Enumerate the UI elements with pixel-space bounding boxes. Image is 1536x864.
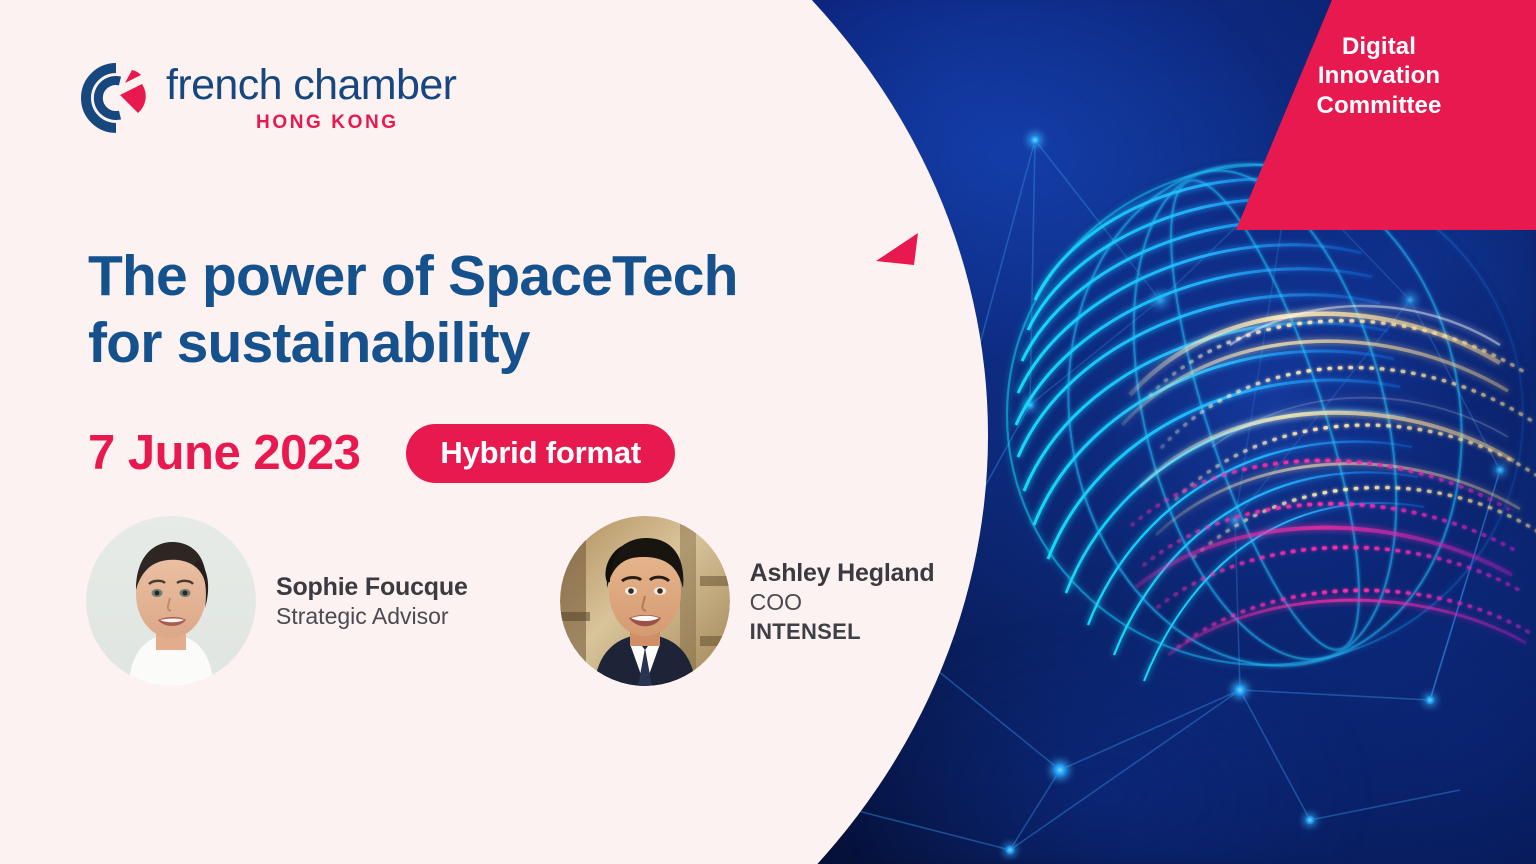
french-chamber-logo[interactable]: french chamber HONG KONG <box>80 62 456 134</box>
banner-line-1: Digital <box>1236 32 1522 61</box>
page-title: The power of SpaceTech for sustainabilit… <box>88 243 918 376</box>
committee-banner: Digital Innovation Committee <box>1236 0 1536 230</box>
speaker-name: Ashley Hegland <box>750 558 935 589</box>
logo-wordmark: french chamber HONG KONG <box>166 62 456 134</box>
event-poster: Digital Innovation Committee french cham… <box>0 0 1536 864</box>
logo-sub-text: HONG KONG <box>256 112 456 134</box>
speaker-info: Sophie Foucque Strategic Advisor <box>276 570 468 632</box>
speaker-info: Ashley Hegland COO INTENSEL <box>750 556 935 647</box>
avatar <box>86 516 256 686</box>
event-meta: 7 June 2023 Hybrid format <box>88 424 675 483</box>
title-line-2: for sustainability <box>88 310 918 377</box>
speaker-org: INTENSEL <box>750 618 935 647</box>
logo-main-text: french chamber <box>166 64 456 107</box>
event-date: 7 June 2023 <box>88 429 360 478</box>
banner-text: Digital Innovation Committee <box>1236 32 1522 120</box>
speaker-card: Ashley Hegland COO INTENSEL <box>560 516 935 686</box>
speaker-name: Sophie Foucque <box>276 572 468 603</box>
triangle-accent-icon <box>874 231 920 277</box>
format-badge: Hybrid format <box>406 424 675 483</box>
speaker-role: COO <box>750 588 935 618</box>
banner-line-2: Innovation <box>1236 61 1522 90</box>
speaker-card: Sophie Foucque Strategic Advisor <box>86 516 468 686</box>
speaker-list: Sophie Foucque Strategic Advisor <box>86 516 934 686</box>
cci-arc-logo-icon <box>80 62 152 134</box>
speaker-role: Strategic Advisor <box>276 602 468 632</box>
avatar <box>560 516 730 686</box>
title-line-1: The power of SpaceTech <box>88 243 918 310</box>
banner-line-3: Committee <box>1236 91 1522 120</box>
